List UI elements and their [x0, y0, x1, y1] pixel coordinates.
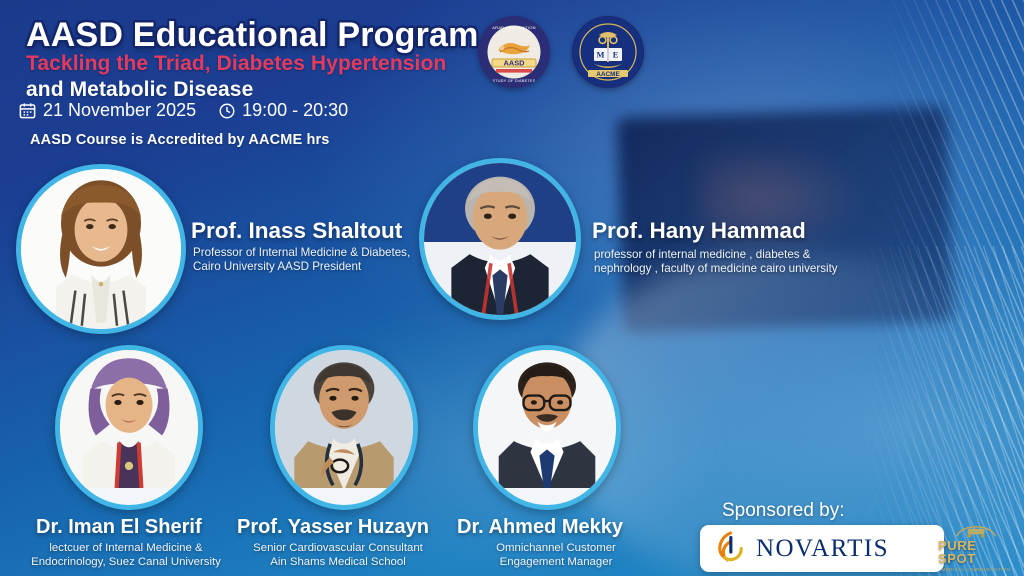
svg-text:AACME: AACME — [596, 71, 620, 78]
speaker-role-inass-shaltout: Professor of Internal Medicine & Diabete… — [193, 246, 423, 275]
aasd-logo: AASD ARAB ASSOCIATION STUDY OF DIABETES — [478, 16, 550, 88]
speaker-photo-ahmed-mekky — [473, 345, 621, 510]
event-banner: AASD Educational Program Tackling the Tr… — [0, 0, 1024, 576]
svg-text:ARAB ASSOCIATION: ARAB ASSOCIATION — [492, 25, 536, 30]
pure-spot-wordmark: PURE SPOT — [938, 539, 1014, 565]
speaker-role-line2: Cairo University AASD President — [193, 260, 361, 273]
novartis-flame-icon — [716, 530, 746, 567]
speaker-name-yasser-huzayn: Prof. Yasser Huzayn — [237, 516, 429, 539]
aacme-logo: M E AACME — [572, 16, 644, 88]
speaker-role-line2: Ain Shams Medical School — [270, 556, 406, 568]
pure-spot-tagline: MEDICAL COMMUNICATION — [942, 567, 1011, 572]
svg-text:E: E — [613, 51, 619, 60]
speaker-name-inass-shaltout: Prof. Inass Shaltout — [191, 218, 402, 244]
speaker-role-ahmed-mekky: Omnichannel Customer Engagement Manager — [444, 541, 668, 570]
calendar-icon — [18, 101, 37, 120]
accreditation-note: AASD Course is Accredited by AACME hrs — [30, 132, 330, 148]
pure-spot-emblem-icon — [947, 524, 1005, 539]
speaker-role-line2: nephrology , faculty of medicine cairo u… — [594, 262, 838, 275]
event-date-text: 21 November 2025 — [43, 100, 196, 121]
svg-text:AASD: AASD — [504, 59, 526, 68]
sponsored-by-label: Sponsored by: — [722, 500, 845, 522]
speaker-name-ahmed-mekky: Dr. Ahmed Mekky — [457, 516, 623, 539]
speaker-name-hany-hammad: Prof. Hany Hammad — [592, 218, 806, 244]
speaker-role-yasser-huzayn: Senior Cardiovascular Consultant Ain Sha… — [226, 541, 450, 570]
event-meta-row: 21 November 2025 19:00 - 20:30 — [18, 100, 348, 121]
organization-logos: AASD ARAB ASSOCIATION STUDY OF DIABETES … — [478, 16, 644, 88]
speaker-role-hany-hammad: professor of internal medicine , diabete… — [594, 248, 859, 277]
page-title: AASD Educational Program — [26, 16, 479, 55]
clock-icon — [218, 102, 236, 120]
event-subtitle-line2: and Metabolic Disease — [26, 78, 253, 102]
speaker-role-line1: Senior Cardiovascular Consultant — [253, 542, 423, 554]
speaker-role-line2: Engagement Manager — [500, 556, 613, 568]
speaker-role-line1: lectcuer of Internal Medicine & — [49, 542, 202, 554]
speaker-photo-iman-el-sherif — [55, 345, 203, 510]
event-date: 21 November 2025 — [18, 100, 196, 121]
speaker-photo-yasser-huzayn — [270, 345, 418, 510]
novartis-sponsor-logo: NOVARTIS — [700, 525, 944, 572]
speaker-photo-inass-shaltout — [16, 164, 186, 334]
speaker-name-iman-el-sherif: Dr. Iman El Sherif — [36, 516, 202, 539]
speaker-role-line1: Omnichannel Customer — [496, 542, 616, 554]
speaker-role-line2: Endocrinology, Suez Canal University — [31, 556, 221, 568]
novartis-wordmark: NOVARTIS — [756, 535, 889, 563]
diagonal-lines-decoration — [874, 0, 1024, 576]
event-time-text: 19:00 - 20:30 — [242, 100, 348, 121]
speaker-photo-hany-hammad — [419, 158, 581, 320]
event-time: 19:00 - 20:30 — [218, 100, 348, 121]
speaker-role-iman-el-sherif: lectcuer of Internal Medicine & Endocrin… — [6, 541, 246, 570]
svg-text:M: M — [597, 51, 605, 60]
svg-text:STUDY OF DIABETES: STUDY OF DIABETES — [493, 79, 536, 83]
speaker-role-line1: professor of internal medicine , diabete… — [594, 248, 811, 261]
event-subtitle-line1: Tackling the Triad, Diabetes Hypertensio… — [26, 52, 446, 76]
pure-spot-sponsor-logo: PURE SPOT MEDICAL COMMUNICATION — [938, 524, 1014, 572]
speaker-role-line1: Professor of Internal Medicine & Diabete… — [193, 246, 410, 259]
